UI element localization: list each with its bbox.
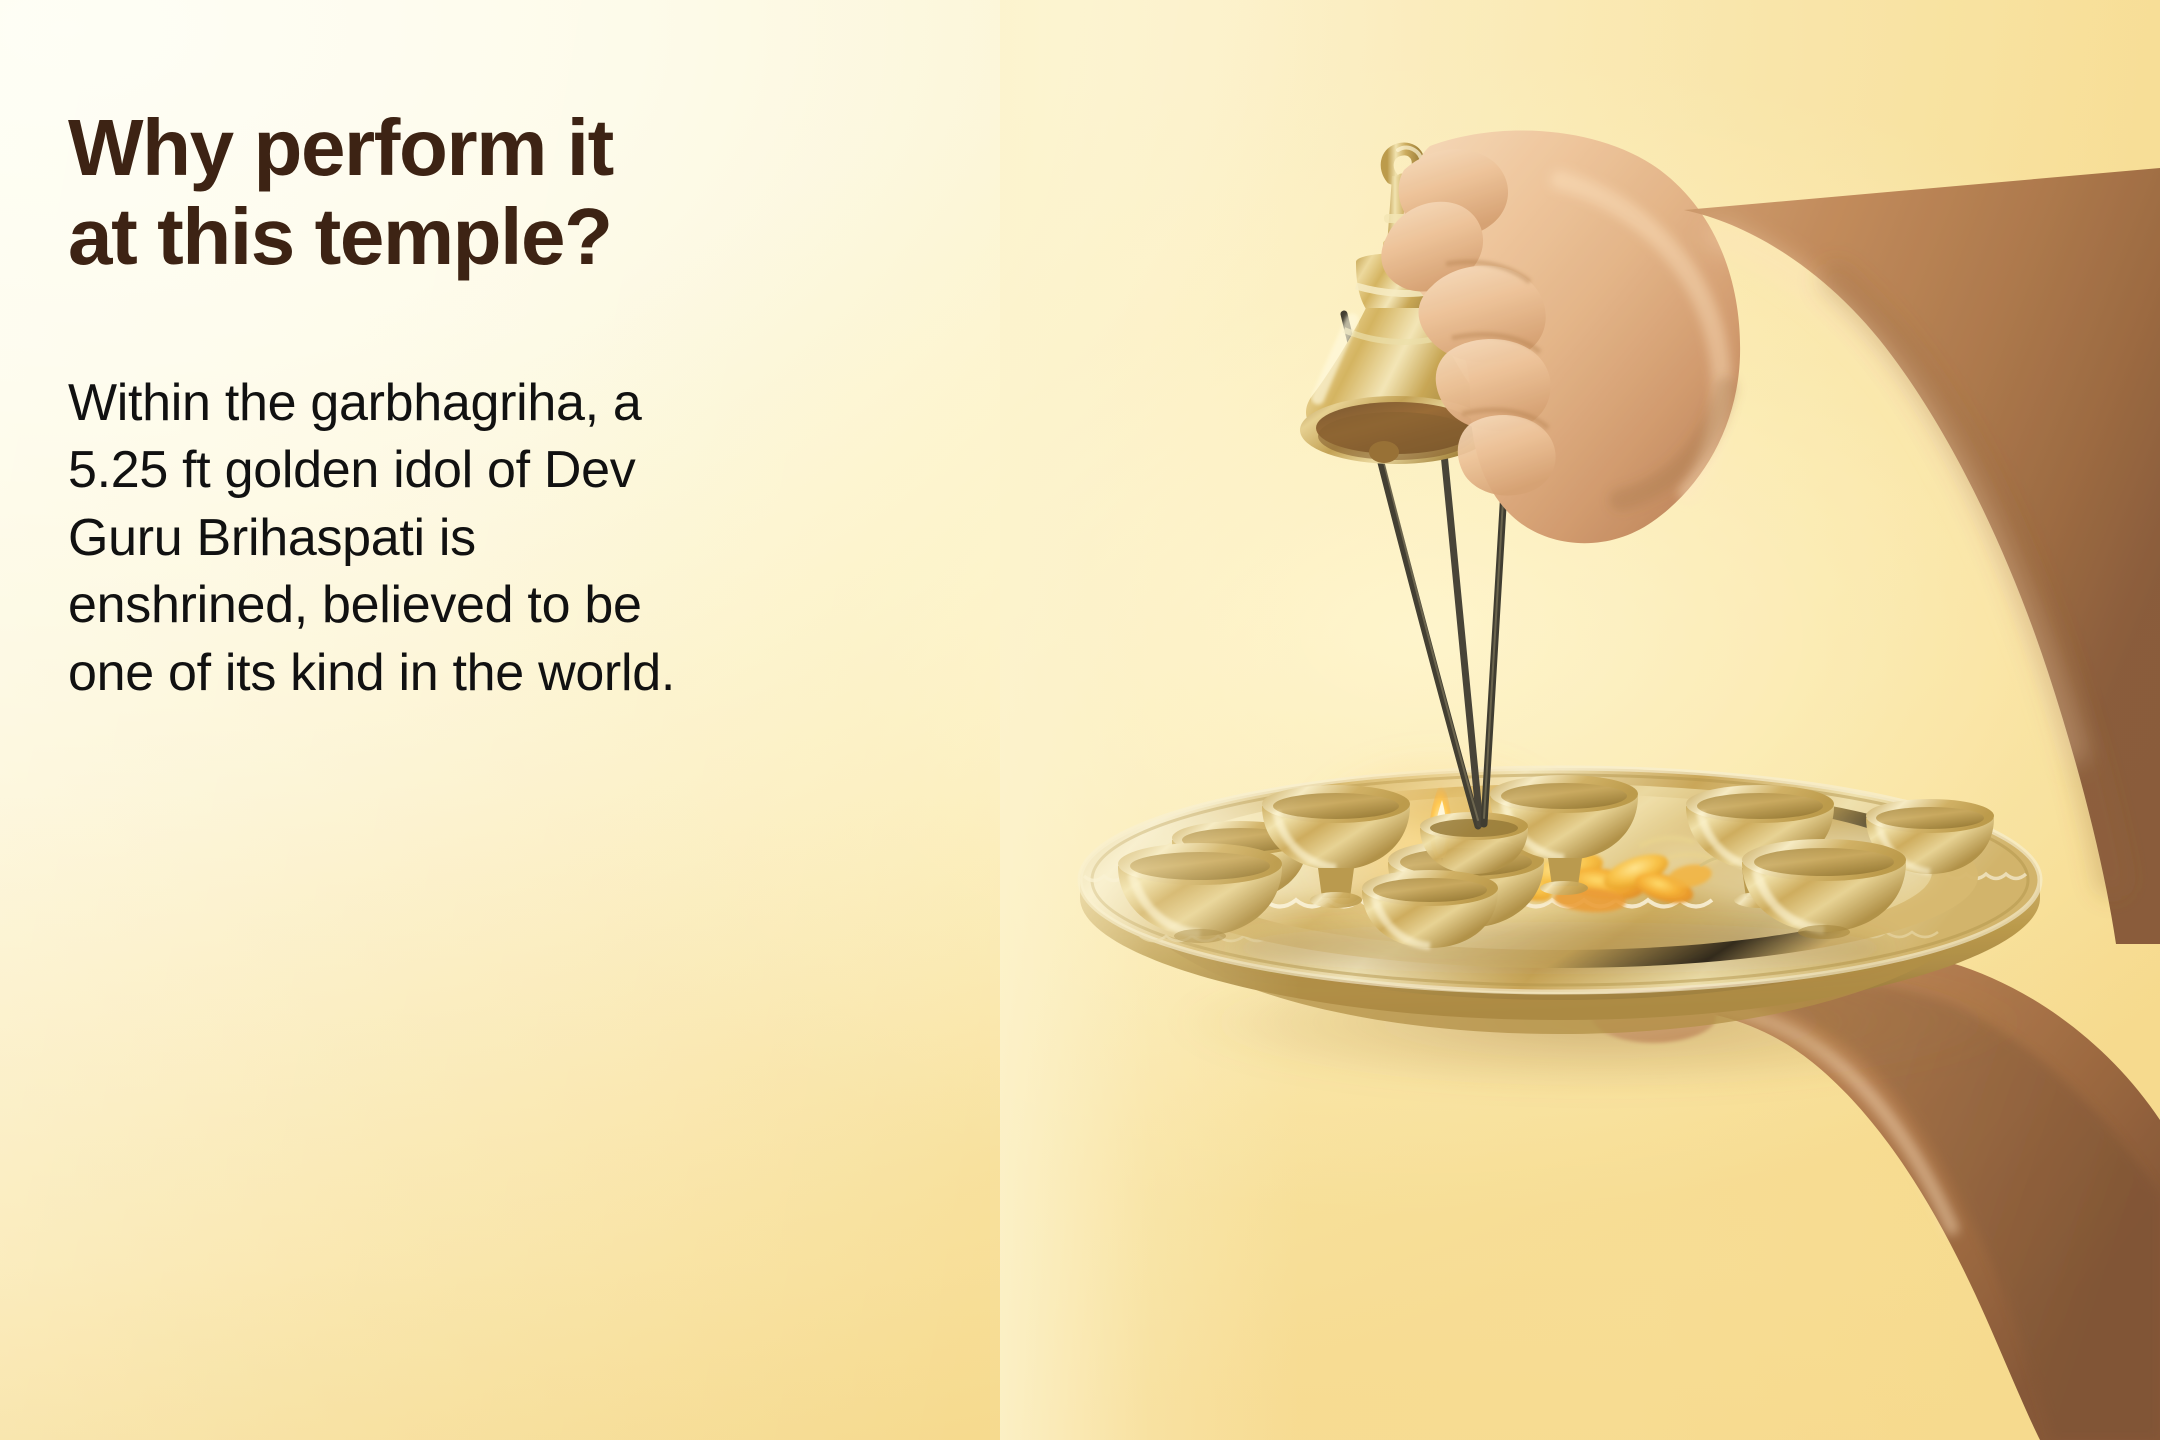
page-title: Why perform it at this temple?	[68, 104, 748, 282]
text-column: Why perform it at this temple? Within th…	[68, 104, 748, 708]
puja-thali-illustration	[1000, 0, 2160, 1440]
puja-thali-photo	[1000, 0, 2160, 1440]
body-paragraph: Within the garbhagriha, a 5.25 ft golden…	[68, 370, 708, 708]
slide-canvas: Why perform it at this temple? Within th…	[0, 0, 2160, 1440]
